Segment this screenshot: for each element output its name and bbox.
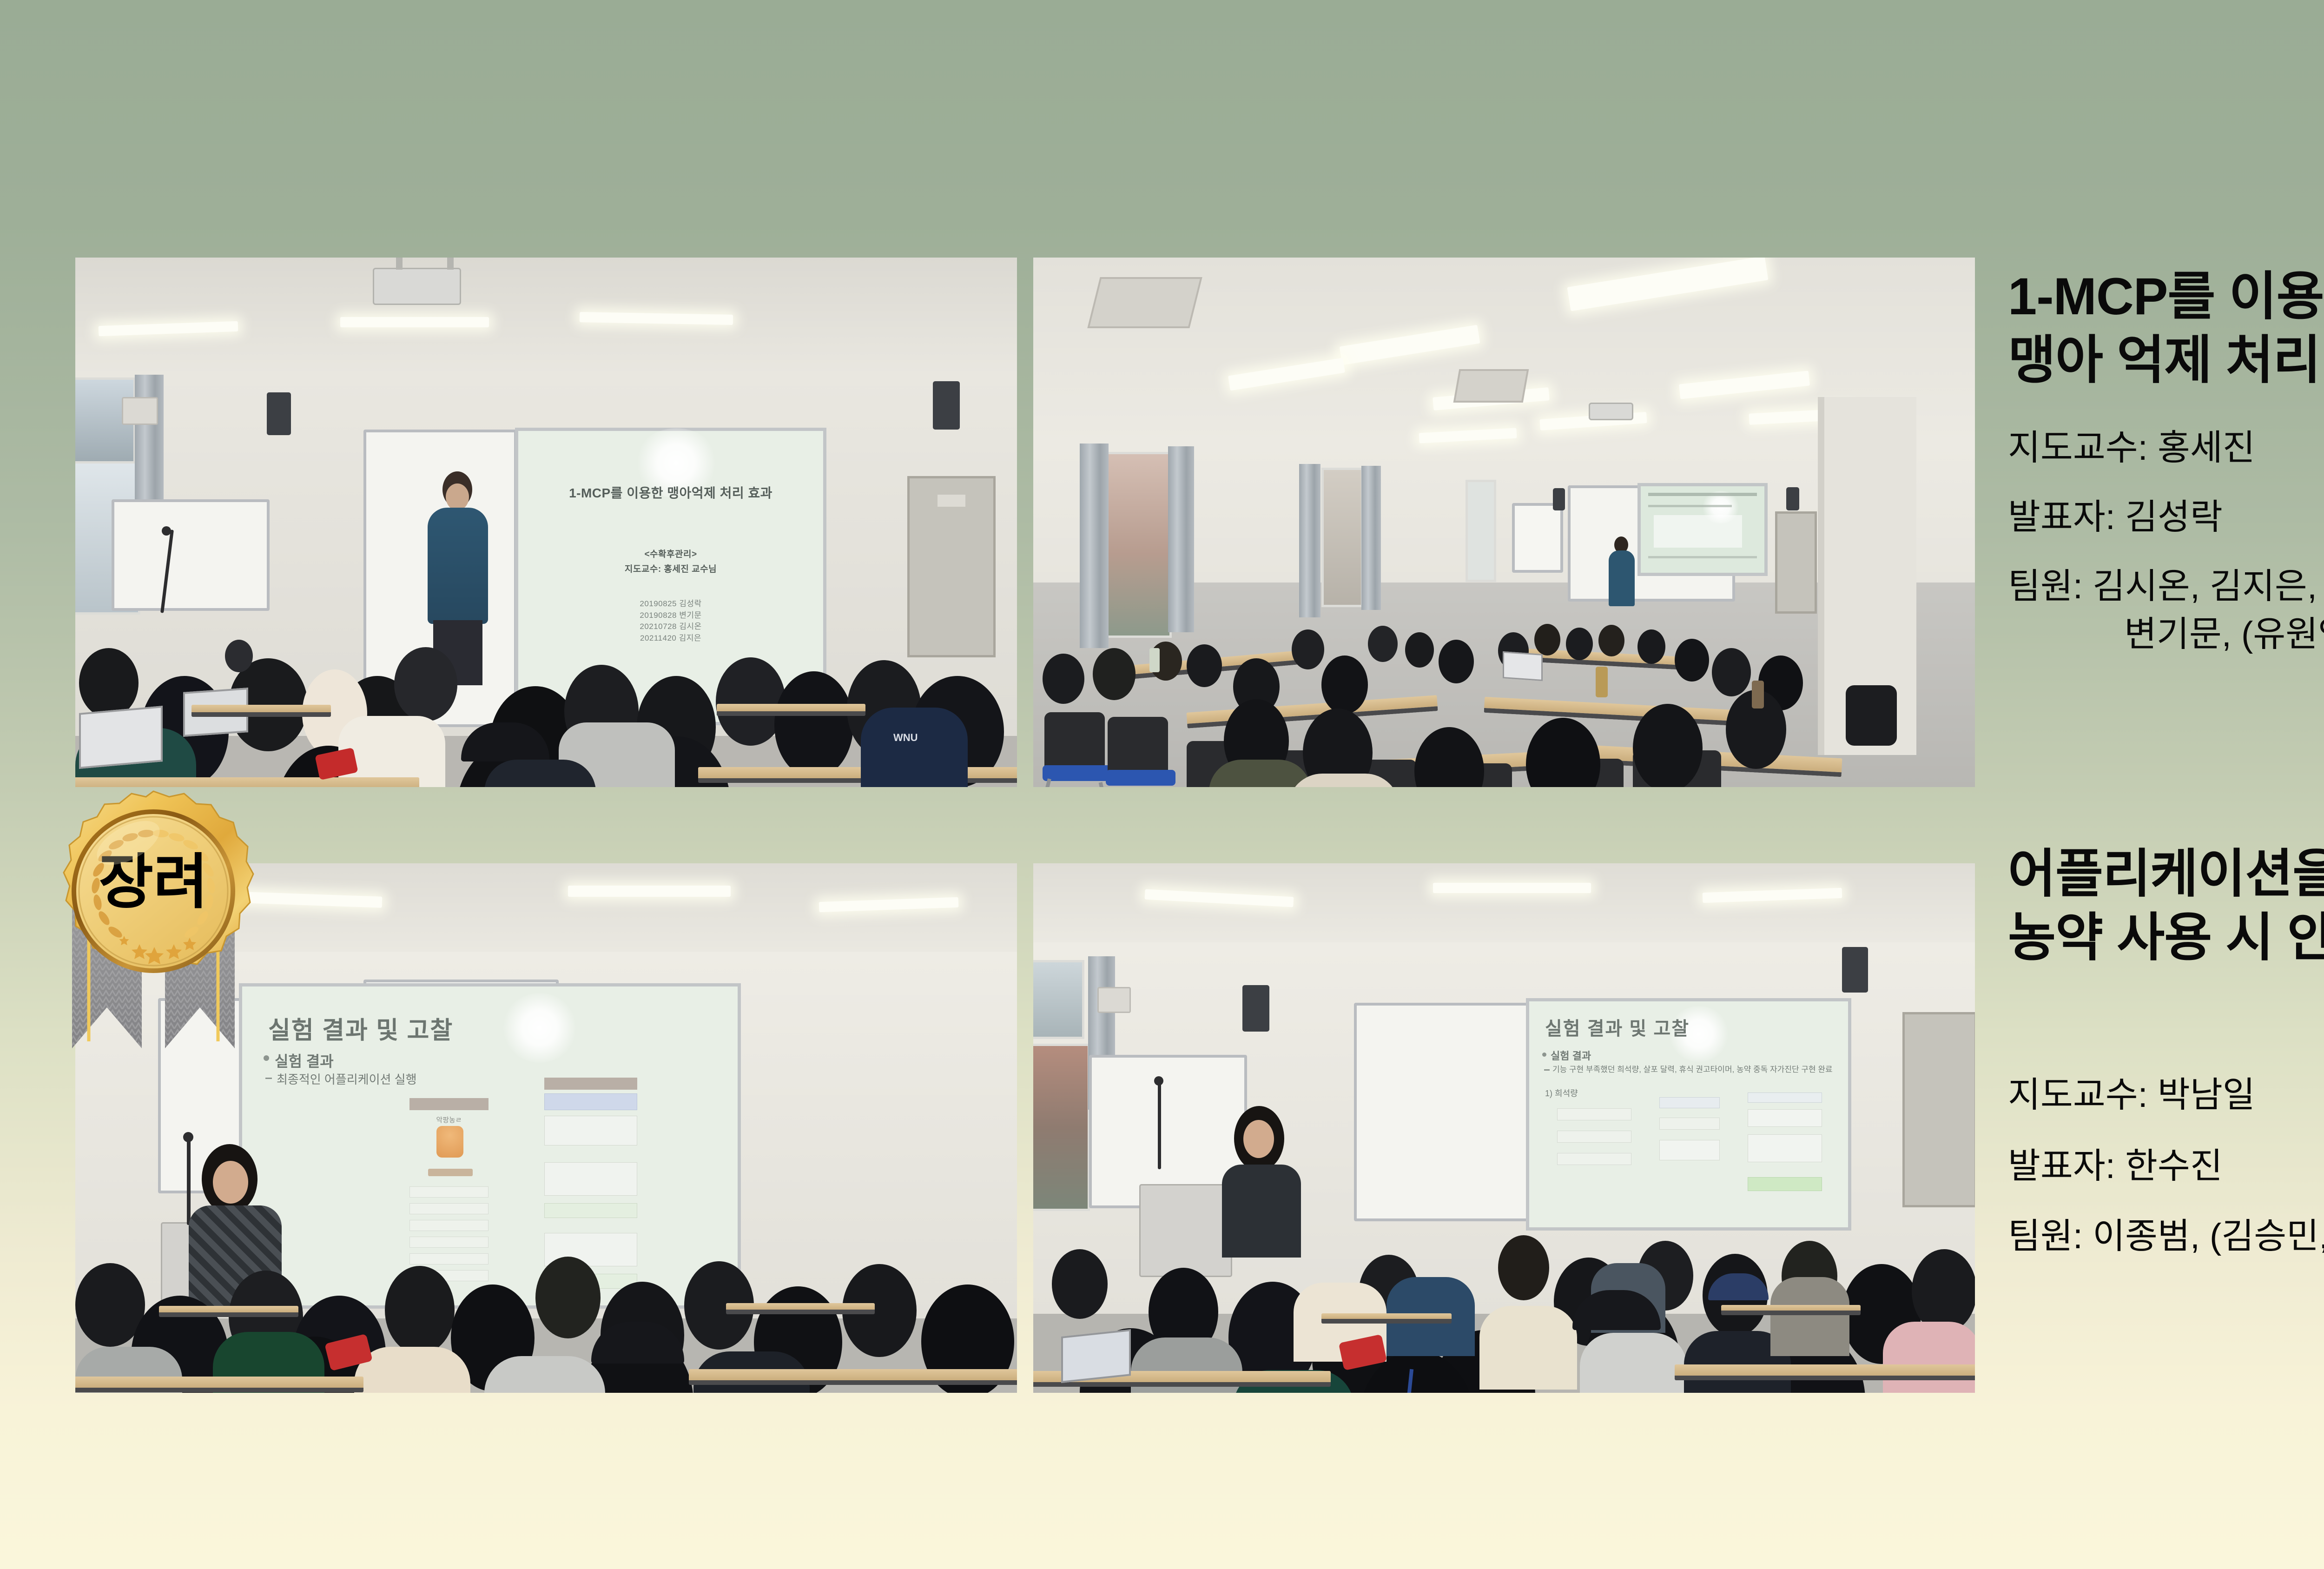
projection-screen-3: 실험 결과 및 고찰 실험 결과 최종적인 어플리케이션 실행 악팡농ㄹ <box>239 983 741 1309</box>
slide-bullet2-4: 기능 구현 부족했던 희석량, 살포 달력, 휴식 권고타이머, 농약 중독 자… <box>1552 1063 1843 1074</box>
project-1-title: 1-MCP를 이용한 맹아 억제 처리 효과. <box>2008 265 2324 392</box>
slide-sub2-1: 지도교수: 홍세진 교수님 <box>518 562 823 575</box>
presentation-slide: 1-MCP를 이용한 맹아억제 처리 효과 <수확후관리> 지도교수: 홍세진 … <box>0 0 2324 1569</box>
project-2-team-line1: 팀원: 이종범, (김승민, 장민영) <box>2008 1214 2324 1260</box>
project-2-presenter: 발표자: 한수진 <box>2008 1144 2324 1190</box>
slide-roster-1: 20190825 김성락 20190828 변기문 20210728 김시온 2… <box>518 598 823 644</box>
project-1-team-line2: 변기문, (유원영) <box>2008 612 2324 658</box>
slide-bullet2-3: 최종적인 어플리케이션 실행 <box>277 1070 417 1087</box>
project-1-advisor: 지도교수: 홍세진 <box>2008 425 2324 471</box>
project-2-text: 어플리케이션을 활용한 농약 사용 시 안전 도우미 지도교수: 박남일 발표자… <box>2008 842 2324 1260</box>
project-2-advisor: 지도교수: 박남일 <box>2008 1072 2324 1119</box>
project-1-presenter: 발표자: 김성락 <box>2008 495 2324 541</box>
slide-title-3: 실험 결과 및 고찰 <box>268 1011 453 1046</box>
project-1-team-line1: 팀원: 김시온, 김지은, 김한비, <box>2008 564 2324 610</box>
slide-bullet3-4: 1) 희석량 <box>1545 1087 1578 1099</box>
award-badge: 장려 <box>44 788 263 1104</box>
slide-title-1: 1-MCP를 이용한 맹아억제 처리 효과 <box>518 483 823 502</box>
project-1-text: 1-MCP를 이용한 맹아 억제 처리 효과. 지도교수: 홍세진 발표자: 김… <box>2008 265 2324 657</box>
project-2-title: 어플리케이션을 활용한 농약 사용 시 안전 도우미 <box>2008 842 2324 969</box>
slide-bullet1-4: 실험 결과 <box>1551 1048 1591 1063</box>
photo-2-right: 실험 결과 및 고찰 실험 결과 기능 구현 부족했던 희석량, 살포 달력, … <box>1033 863 1975 1393</box>
projection-screen-4: 실험 결과 및 고찰 실험 결과 기능 구현 부족했던 희석량, 살포 달력, … <box>1526 998 1851 1231</box>
app-label-3: 악팡농ㄹ <box>419 1115 479 1125</box>
photo-1-right <box>1033 258 1975 787</box>
photo-1-left: 1-MCP를 이용한 맹아억제 처리 효과 <수확후관리> 지도교수: 홍세진 … <box>75 258 1017 787</box>
slide-bullet1-3: 실험 결과 <box>275 1050 334 1071</box>
slide-sub1-1: <수확후관리> <box>518 547 823 560</box>
projection-screen-2 <box>1637 483 1768 576</box>
slide-title-4: 실험 결과 및 고찰 <box>1545 1013 1690 1040</box>
